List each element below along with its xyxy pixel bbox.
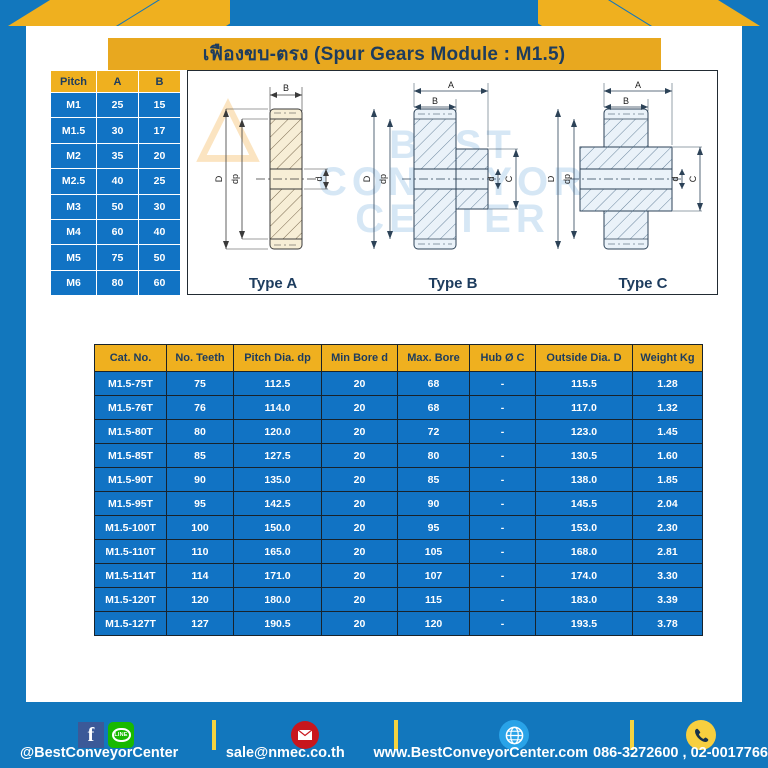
spec-header-pitch-dia: Pitch Dia. dp <box>234 345 322 372</box>
dim-label-C: C <box>688 175 698 182</box>
spec-header-outside-dia: Outside Dia. D <box>536 345 633 372</box>
table-row: M35030 <box>51 194 181 219</box>
spec-header-hub-c: Hub Ø C <box>470 345 536 372</box>
cell-hub-c: - <box>470 588 536 612</box>
cell-cat-no: M1.5-100T <box>95 516 167 540</box>
cell-b: 50 <box>139 245 181 270</box>
spec-header-min-bore: Min Bore d <box>322 345 398 372</box>
footer-email-text: sale@nmec.co.th <box>202 745 369 761</box>
content-panel: เฟืองขบ-ตรง (Spur Gears Module : M1.5) P… <box>26 26 742 702</box>
cell-b: 15 <box>139 93 181 118</box>
cell-max-bore: 80 <box>398 444 470 468</box>
cell-max-bore: 115 <box>398 588 470 612</box>
cell-no-teeth: 120 <box>167 588 234 612</box>
cell-max-bore: 95 <box>398 516 470 540</box>
cell-no-teeth: 114 <box>167 564 234 588</box>
cell-weight: 2.30 <box>633 516 703 540</box>
cell-outside-dia: 130.5 <box>536 444 633 468</box>
cell-pitch: M5 <box>51 245 97 270</box>
specification-table-wrap: Cat. No. No. Teeth Pitch Dia. dp Min Bor… <box>94 344 682 636</box>
cell-max-bore: 68 <box>398 372 470 396</box>
cell-max-bore: 120 <box>398 612 470 636</box>
table-row: M1.5-120T 120 180.0 20 115 - 183.0 3.39 <box>95 588 703 612</box>
cell-pitch-dia: 180.0 <box>234 588 322 612</box>
upper-section: Pitch A B M12515 M1.53017 M23520 M2.5402… <box>50 70 718 295</box>
cell-max-bore: 105 <box>398 540 470 564</box>
pitch-table: Pitch A B M12515 M1.53017 M23520 M2.5402… <box>50 70 181 296</box>
dim-label-d: d <box>670 176 680 181</box>
gear-drawings-row: B D dp <box>188 71 717 294</box>
cell-min-bore: 20 <box>322 372 398 396</box>
cell-outside-dia: 145.5 <box>536 492 633 516</box>
cell-b: 25 <box>139 169 181 194</box>
pitch-header-pitch: Pitch <box>51 71 97 93</box>
dim-label-d: d <box>314 176 324 181</box>
cell-a: 50 <box>97 194 139 219</box>
cell-min-bore: 20 <box>322 420 398 444</box>
dim-label-D: D <box>362 175 372 182</box>
cell-no-teeth: 90 <box>167 468 234 492</box>
table-row: M2.54025 <box>51 169 181 194</box>
cell-outside-dia: 168.0 <box>536 540 633 564</box>
cell-pitch-dia: 120.0 <box>234 420 322 444</box>
gear-diagram-type-a: B D dp <box>188 71 358 294</box>
table-row: M1.5-75T 75 112.5 20 68 - 115.5 1.28 <box>95 372 703 396</box>
table-row: M1.53017 <box>51 118 181 143</box>
gear-diagram-type-b: A B D <box>358 71 548 294</box>
envelope-glyph <box>297 729 313 741</box>
cell-cat-no: M1.5-85T <box>95 444 167 468</box>
cell-no-teeth: 76 <box>167 396 234 420</box>
cell-a: 25 <box>97 93 139 118</box>
cell-cat-no: M1.5-90T <box>95 468 167 492</box>
spec-header-max-bore: Max. Bore <box>398 345 470 372</box>
pitch-header-b: B <box>139 71 181 93</box>
table-row: M46040 <box>51 219 181 244</box>
cell-pitch-dia: 190.5 <box>234 612 322 636</box>
cell-weight: 2.04 <box>633 492 703 516</box>
cell-weight: 3.39 <box>633 588 703 612</box>
cell-no-teeth: 85 <box>167 444 234 468</box>
cell-weight: 2.81 <box>633 540 703 564</box>
cell-weight: 1.60 <box>633 444 703 468</box>
cell-pitch: M2.5 <box>51 169 97 194</box>
specification-table: Cat. No. No. Teeth Pitch Dia. dp Min Bor… <box>94 344 703 636</box>
table-row: M1.5-95T 95 142.5 20 90 - 145.5 2.04 <box>95 492 703 516</box>
table-row: M1.5-100T 100 150.0 20 95 - 153.0 2.30 <box>95 516 703 540</box>
dim-label-dp: dp <box>378 174 388 184</box>
cell-hub-c: - <box>470 468 536 492</box>
page-title: เฟืองขบ-ตรง (Spur Gears Module : M1.5) <box>203 39 566 69</box>
cell-hub-c: - <box>470 420 536 444</box>
dim-label-D: D <box>548 175 556 182</box>
cell-min-bore: 20 <box>322 564 398 588</box>
cell-a: 35 <box>97 143 139 168</box>
cell-max-bore: 72 <box>398 420 470 444</box>
cell-cat-no: M1.5-95T <box>95 492 167 516</box>
cell-outside-dia: 183.0 <box>536 588 633 612</box>
cell-min-bore: 20 <box>322 444 398 468</box>
cell-max-bore: 68 <box>398 396 470 420</box>
gear-diagram-type-c: A B D <box>548 71 718 294</box>
table-row: M1.5-114T 114 171.0 20 107 - 174.0 3.30 <box>95 564 703 588</box>
cell-no-teeth: 100 <box>167 516 234 540</box>
table-row: M1.5-90T 90 135.0 20 85 - 138.0 1.85 <box>95 468 703 492</box>
dim-label-C: C <box>504 175 514 182</box>
cell-cat-no: M1.5-110T <box>95 540 167 564</box>
cell-cat-no: M1.5-75T <box>95 372 167 396</box>
cell-b: 20 <box>139 143 181 168</box>
cell-outside-dia: 174.0 <box>536 564 633 588</box>
dim-label-d: d <box>486 176 496 181</box>
cell-min-bore: 20 <box>322 516 398 540</box>
cell-pitch-dia: 114.0 <box>234 396 322 420</box>
cell-max-bore: 85 <box>398 468 470 492</box>
cell-pitch: M2 <box>51 143 97 168</box>
cell-hub-c: - <box>470 612 536 636</box>
table-row: M1.5-127T 127 190.5 20 120 - 193.5 3.78 <box>95 612 703 636</box>
cell-a: 75 <box>97 245 139 270</box>
cell-cat-no: M1.5-120T <box>95 588 167 612</box>
table-row: M1.5-80T 80 120.0 20 72 - 123.0 1.45 <box>95 420 703 444</box>
cell-no-teeth: 110 <box>167 540 234 564</box>
type-c-label: Type C <box>619 275 668 292</box>
footer-text-row: @BestConveyorCenter sale@nmec.co.th www.… <box>0 742 768 764</box>
cell-no-teeth: 80 <box>167 420 234 444</box>
dim-label-B: B <box>623 96 629 106</box>
table-row: M1.5-85T 85 127.5 20 80 - 130.5 1.60 <box>95 444 703 468</box>
cell-weight: 1.85 <box>633 468 703 492</box>
table-row: M1.5-76T 76 114.0 20 68 - 117.0 1.32 <box>95 396 703 420</box>
page-title-bar: เฟืองขบ-ตรง (Spur Gears Module : M1.5) <box>108 38 661 70</box>
cell-min-bore: 20 <box>322 396 398 420</box>
cell-pitch-dia: 165.0 <box>234 540 322 564</box>
cell-outside-dia: 138.0 <box>536 468 633 492</box>
cell-max-bore: 107 <box>398 564 470 588</box>
type-b-label: Type B <box>429 275 478 292</box>
spec-header-row: Cat. No. No. Teeth Pitch Dia. dp Min Bor… <box>95 345 703 372</box>
cell-pitch: M1 <box>51 93 97 118</box>
cell-hub-c: - <box>470 444 536 468</box>
cell-max-bore: 90 <box>398 492 470 516</box>
pitch-table-header-row: Pitch A B <box>51 71 181 93</box>
cell-pitch: M6 <box>51 270 97 295</box>
cell-cat-no: M1.5-114T <box>95 564 167 588</box>
spec-header-cat-no: Cat. No. <box>95 345 167 372</box>
spec-header-weight: Weight Kg <box>633 345 703 372</box>
cell-no-teeth: 127 <box>167 612 234 636</box>
cell-no-teeth: 75 <box>167 372 234 396</box>
type-a-svg: B D dp <box>188 79 358 274</box>
cell-hub-c: - <box>470 564 536 588</box>
cell-min-bore: 20 <box>322 468 398 492</box>
cell-b: 30 <box>139 194 181 219</box>
footer-social-text: @BestConveyorCenter <box>0 745 198 761</box>
cell-hub-c: - <box>470 396 536 420</box>
dim-label-A: A <box>448 80 454 90</box>
cell-a: 80 <box>97 270 139 295</box>
spec-header-no-teeth: No. Teeth <box>167 345 234 372</box>
cell-weight: 1.28 <box>633 372 703 396</box>
dim-label-B: B <box>283 83 289 93</box>
cell-b: 60 <box>139 270 181 295</box>
table-row: M1.5-110T 110 165.0 20 105 - 168.0 2.81 <box>95 540 703 564</box>
cell-b: 40 <box>139 219 181 244</box>
cell-outside-dia: 117.0 <box>536 396 633 420</box>
type-a-label: Type A <box>249 275 297 292</box>
cell-pitch: M4 <box>51 219 97 244</box>
dim-label-dp: dp <box>230 174 240 184</box>
cell-pitch-dia: 150.0 <box>234 516 322 540</box>
cell-hub-c: - <box>470 516 536 540</box>
cell-cat-no: M1.5-80T <box>95 420 167 444</box>
pitch-header-a: A <box>97 71 139 93</box>
cell-cat-no: M1.5-127T <box>95 612 167 636</box>
cell-weight: 1.45 <box>633 420 703 444</box>
type-c-svg: A B D <box>548 79 718 274</box>
gear-drawings-panel: △ BEST CONVEYOR CENTER <box>187 70 718 295</box>
cell-a: 40 <box>97 169 139 194</box>
dim-label-A: A <box>635 80 641 90</box>
cell-pitch-dia: 127.5 <box>234 444 322 468</box>
cell-a: 60 <box>97 219 139 244</box>
table-row: M68060 <box>51 270 181 295</box>
cell-pitch: M3 <box>51 194 97 219</box>
table-row: M23520 <box>51 143 181 168</box>
cell-min-bore: 20 <box>322 612 398 636</box>
cell-cat-no: M1.5-76T <box>95 396 167 420</box>
cell-weight: 3.78 <box>633 612 703 636</box>
cell-outside-dia: 123.0 <box>536 420 633 444</box>
cell-pitch-dia: 112.5 <box>234 372 322 396</box>
phone-glyph <box>693 727 710 744</box>
cell-pitch-dia: 171.0 <box>234 564 322 588</box>
cell-pitch-dia: 135.0 <box>234 468 322 492</box>
corner-chevrons-right <box>538 0 768 26</box>
cell-weight: 1.32 <box>633 396 703 420</box>
cell-hub-c: - <box>470 540 536 564</box>
cell-no-teeth: 95 <box>167 492 234 516</box>
corner-chevrons-left <box>0 0 230 26</box>
cell-pitch: M1.5 <box>51 118 97 143</box>
cell-outside-dia: 193.5 <box>536 612 633 636</box>
cell-pitch-dia: 142.5 <box>234 492 322 516</box>
dim-label-dp: dp <box>562 174 572 184</box>
table-row: M12515 <box>51 93 181 118</box>
cell-weight: 3.30 <box>633 564 703 588</box>
line-icon-label: LINE <box>112 728 131 742</box>
cell-min-bore: 20 <box>322 540 398 564</box>
cell-outside-dia: 153.0 <box>536 516 633 540</box>
footer-website-text: www.BestConveyorCenter.com <box>372 745 589 761</box>
type-b-svg: A B D <box>358 79 548 274</box>
cell-hub-c: - <box>470 492 536 516</box>
cell-a: 30 <box>97 118 139 143</box>
cell-b: 17 <box>139 118 181 143</box>
table-row: M57550 <box>51 245 181 270</box>
cell-hub-c: - <box>470 372 536 396</box>
cell-min-bore: 20 <box>322 588 398 612</box>
dim-label-B: B <box>432 96 438 106</box>
dim-label-D: D <box>214 175 224 182</box>
specification-table-body: M1.5-75T 75 112.5 20 68 - 115.5 1.28 M1.… <box>95 372 703 636</box>
cell-min-bore: 20 <box>322 492 398 516</box>
cell-outside-dia: 115.5 <box>536 372 633 396</box>
pitch-table-body: M12515 M1.53017 M23520 M2.54025 M35030 M… <box>51 93 181 296</box>
footer-phone-text: 086-3272600 , 02-0017766 <box>593 745 768 761</box>
